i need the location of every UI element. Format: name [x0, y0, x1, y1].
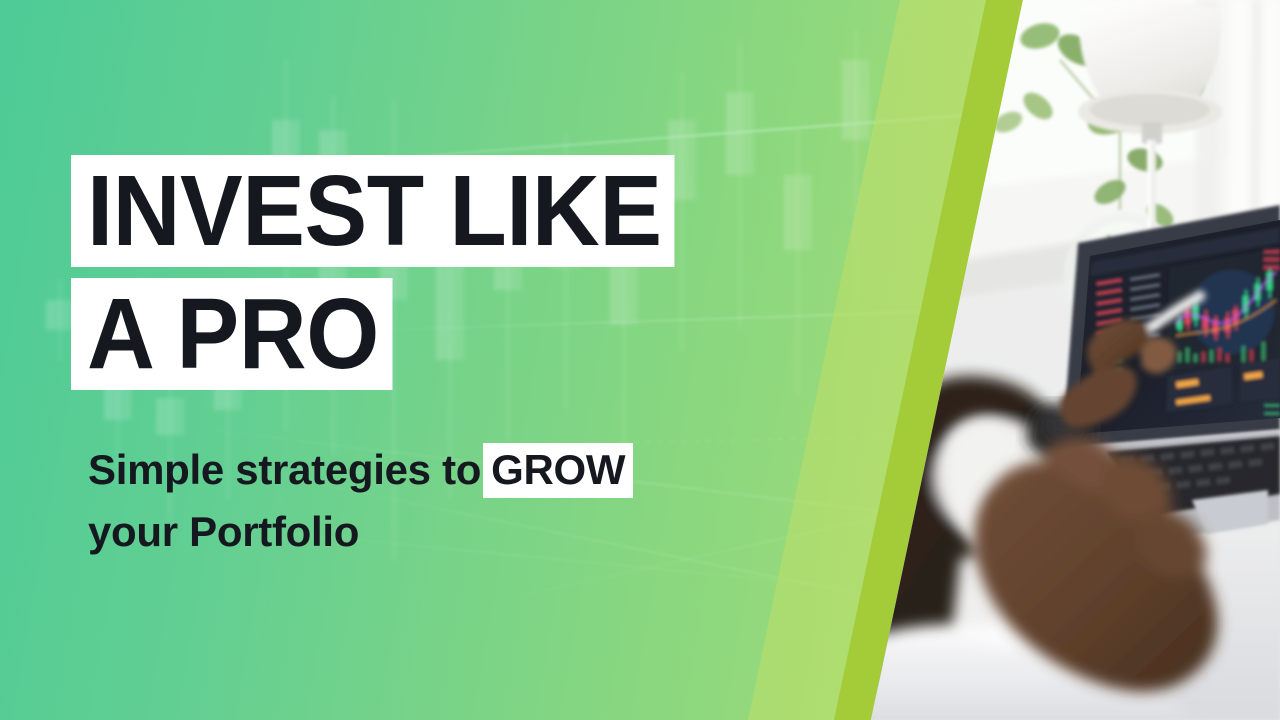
subheadline-highlight-grow: GROW — [483, 443, 633, 498]
subheadline: Simple strategies toGROW your Portfolio — [88, 440, 633, 561]
invest-like-a-pro-banner: INVEST LIKE A PRO Simple strategies toGR… — [0, 0, 1280, 720]
headline-line-2: A PRO — [71, 278, 392, 390]
subheadline-prefix: Simple strategies to — [88, 446, 481, 493]
headline-line-1: INVEST LIKE — [71, 155, 675, 267]
subheadline-line-2: your Portfolio — [88, 502, 633, 562]
